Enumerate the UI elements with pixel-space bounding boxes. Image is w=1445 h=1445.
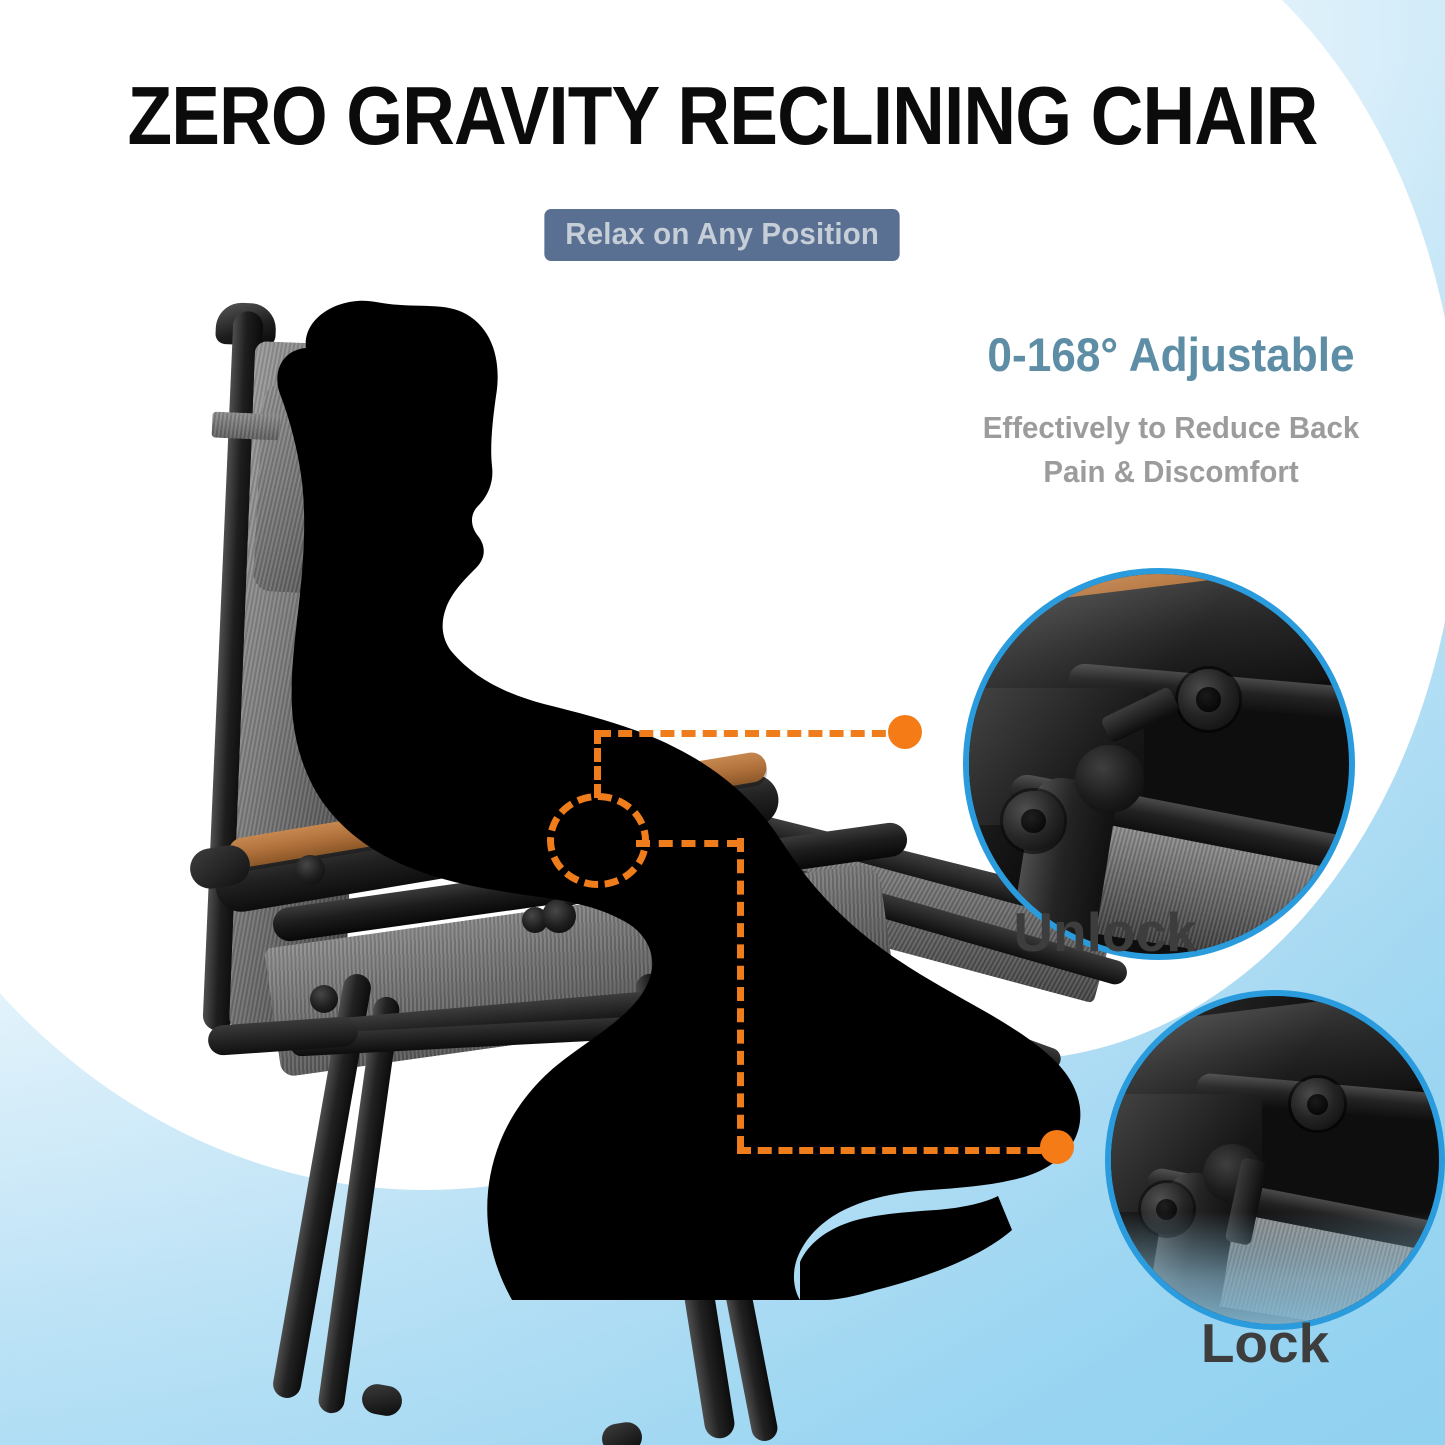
callout-dot-lock (1040, 1130, 1074, 1164)
inset-label-lock-text: Lock (1201, 1312, 1329, 1374)
callout-line-to-lock (737, 1147, 1062, 1154)
callout-line-horizontal-mid (636, 840, 741, 847)
feature-body-line-1: Effectively to Reduce Back (972, 406, 1371, 450)
inset-photo-lock (1105, 990, 1445, 1330)
feature-callout-block: 0-168° Adjustable Effectively to Reduce … (961, 330, 1381, 494)
callout-line-to-unlock (597, 730, 907, 737)
callout-line-vertical-down (737, 838, 744, 1150)
tagline-badge: Relax on Any Position (545, 209, 901, 261)
inset-gloss-overlay (969, 574, 1349, 954)
inset-gloss-overlay (1111, 996, 1439, 1324)
callout-highlight-circle (547, 793, 649, 888)
inset-label-unlock: Unlock (955, 905, 1255, 960)
page-title: ZERO GRAVITY RECLINING CHAIR (87, 74, 1359, 157)
chair-foot-rear (600, 1420, 644, 1445)
tagline-badge-wrap: Relax on Any Position (0, 209, 1445, 261)
callout-line-vertical-top (594, 730, 601, 798)
inset-label-unlock-text: Unlock (1013, 901, 1196, 963)
feature-body-line-2: Pain & Discomfort (972, 450, 1371, 494)
callout-dot-unlock (888, 715, 922, 749)
inset-label-lock: Lock (1150, 1316, 1380, 1371)
feature-headline: 0-168° Adjustable (974, 330, 1369, 380)
product-image-canvas: Unlock Lock ZERO GRAVITY RECLINING CHAIR… (0, 0, 1445, 1445)
feature-body: Effectively to Reduce Back Pain & Discom… (972, 406, 1371, 494)
chair-foot-front (360, 1382, 405, 1418)
